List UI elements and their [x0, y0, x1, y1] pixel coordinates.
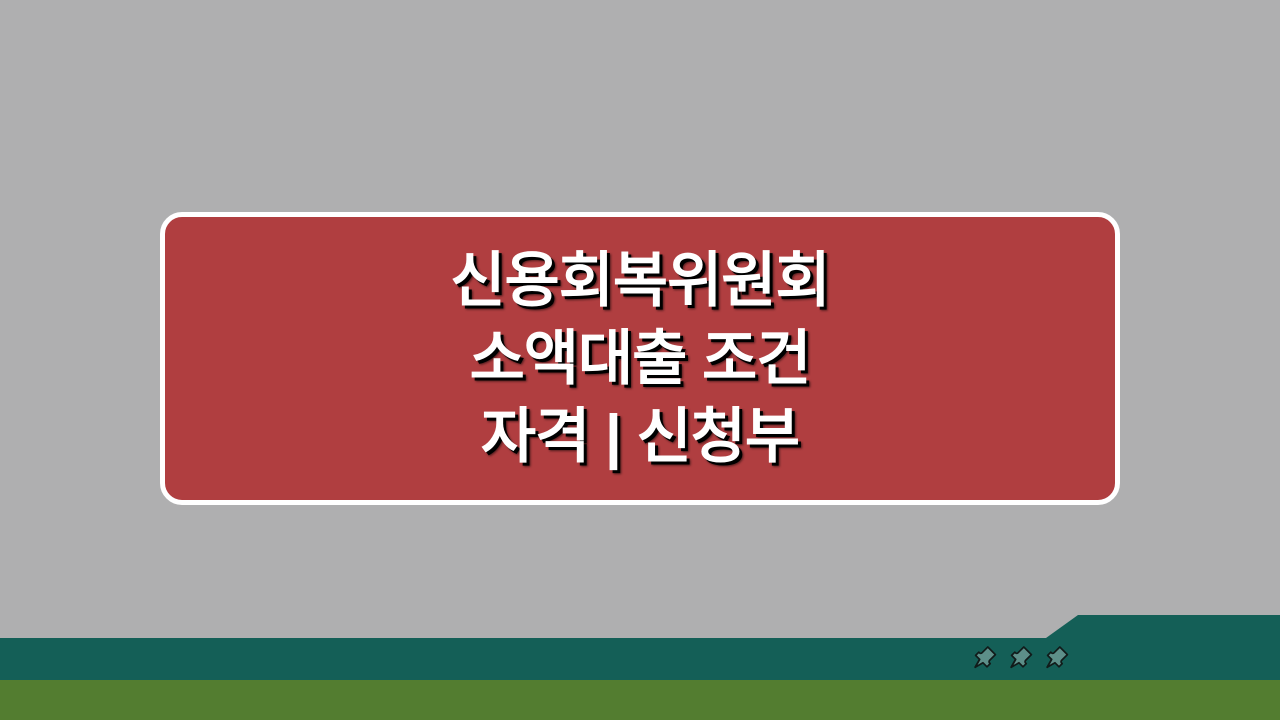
title-line-1: 신용회복위원회: [450, 242, 829, 320]
title-line-3: 자격 | 신청부: [481, 398, 799, 476]
pushpin-icon: [972, 644, 998, 670]
title-card: 신용회복위원회 소액대출 조건 자격 | 신청부: [160, 212, 1120, 505]
pushpin-icon: [1044, 644, 1070, 670]
pushpin-icon: [1008, 644, 1034, 670]
footer-green-band: [0, 678, 1280, 720]
footer-teal-band: [0, 612, 1280, 680]
thumbnail-canvas: 신용회복위원회 소액대출 조건 자격 | 신청부: [0, 0, 1280, 720]
footer-decoration-row: [972, 641, 1076, 673]
footer-teal-shape: [0, 612, 1280, 680]
title-line-2: 소액대출 조건: [470, 320, 811, 398]
